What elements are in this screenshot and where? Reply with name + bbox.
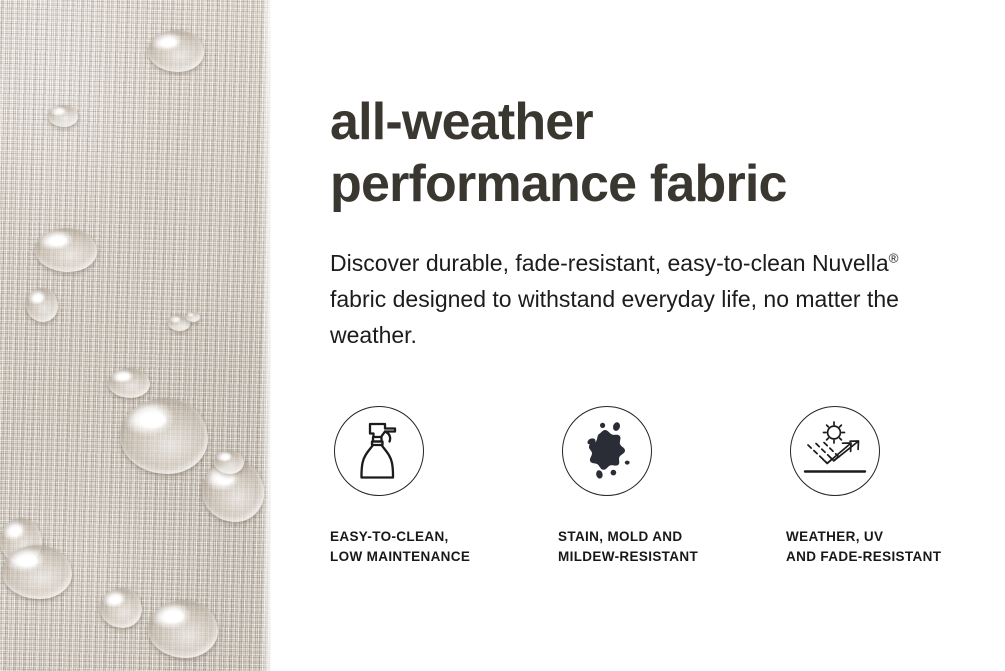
sun-uv-reflect-icon xyxy=(802,421,868,481)
water-droplet xyxy=(108,368,150,398)
feature-label-stain-resistant: STAIN, MOLD AND MILDEW-RESISTANT xyxy=(558,527,698,567)
water-droplet xyxy=(2,545,72,599)
water-droplet xyxy=(26,288,58,322)
promo-banner: all-weatherperformance fabric Discover d… xyxy=(0,0,1005,671)
feature-item-stain-resistant: STAIN, MOLD AND MILDEW-RESISTANT xyxy=(558,406,786,567)
water-droplet xyxy=(214,450,244,474)
spray-bottle-icon xyxy=(351,420,407,482)
feature-item-easy-to-clean: EASY-TO-CLEAN, LOW MAINTENANCE xyxy=(330,406,558,567)
water-droplet xyxy=(48,105,78,127)
photo-edge-fade xyxy=(261,0,271,671)
water-droplet xyxy=(35,228,97,272)
subcopy-after-mark: fabric designed to withstand everyday li… xyxy=(330,286,899,348)
fabric-photo-panel xyxy=(0,0,271,671)
feature-item-weather-uv-resistant: WEATHER, UV AND FADE-RESISTANT xyxy=(786,406,990,567)
headline-line-1: all-weather xyxy=(330,93,593,151)
content-column: all-weatherperformance fabric Discover d… xyxy=(330,0,990,671)
water-droplet xyxy=(120,398,208,474)
registered-trademark-mark: ® xyxy=(889,250,899,265)
icon-circle-stain-resistant xyxy=(562,406,652,496)
icon-circle-easy-to-clean xyxy=(334,406,424,496)
icon-circle-weather-uv-resistant xyxy=(790,406,880,496)
feature-label-easy-to-clean: EASY-TO-CLEAN, LOW MAINTENANCE xyxy=(330,527,470,567)
subheadline-copy: Discover durable, fade-resistant, easy-t… xyxy=(330,245,950,353)
feature-label-weather-uv-resistant: WEATHER, UV AND FADE-RESISTANT xyxy=(786,527,941,567)
water-droplet xyxy=(148,600,218,658)
page-title: all-weatherperformance fabric xyxy=(330,91,990,215)
feature-list: EASY-TO-CLEAN, LOW MAINTENANCE xyxy=(330,406,990,567)
water-droplet xyxy=(148,30,204,72)
water-droplet xyxy=(186,312,200,322)
water-droplet xyxy=(100,588,142,628)
stain-splat-icon xyxy=(575,421,639,481)
subcopy-before-mark: Discover durable, fade-resistant, easy-t… xyxy=(330,250,889,276)
headline-line-2: performance fabric xyxy=(330,155,787,213)
